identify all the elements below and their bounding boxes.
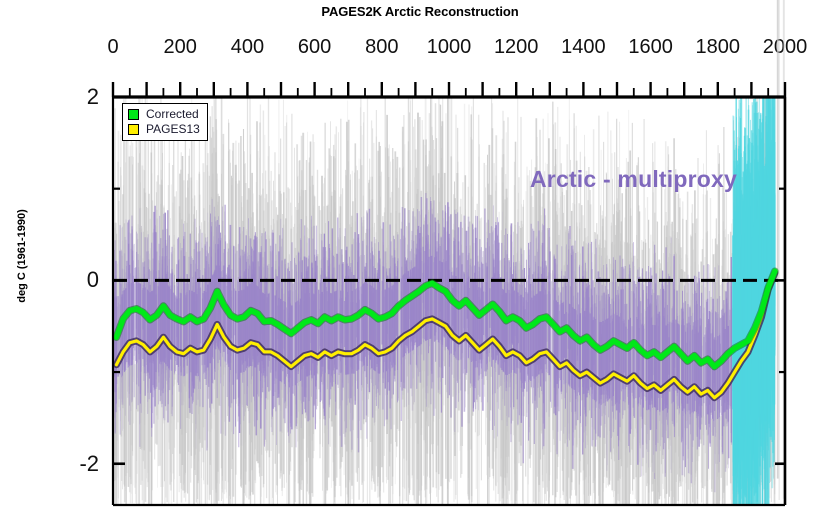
legend: Corrected PAGES13	[122, 103, 208, 141]
plot-area	[0, 0, 840, 520]
legend-item-pages13[interactable]: PAGES13	[128, 122, 200, 137]
legend-item-corrected[interactable]: Corrected	[128, 107, 200, 122]
legend-label-pages13: PAGES13	[146, 123, 200, 136]
uncertainty-ensemble	[113, 0, 785, 505]
chart-annotation: Arctic - multiproxy	[530, 166, 737, 193]
legend-swatch-pages13	[128, 124, 139, 135]
legend-swatch-corrected	[128, 109, 139, 120]
legend-label-corrected: Corrected	[146, 108, 199, 121]
